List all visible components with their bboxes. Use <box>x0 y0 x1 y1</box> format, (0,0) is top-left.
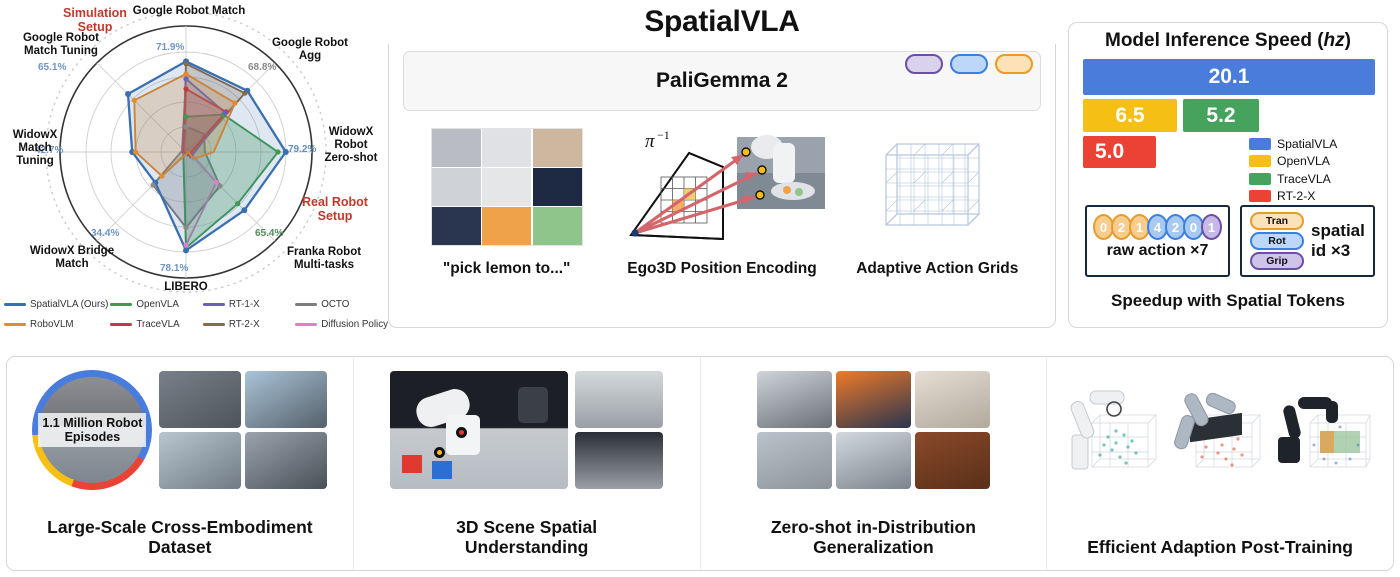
photo-thumb <box>915 432 990 489</box>
radar-axis-label-libero: LIBERO <box>146 281 226 294</box>
photo-thumb <box>575 371 663 428</box>
legend-swatch-icon <box>110 323 132 326</box>
legend-swatch-icon <box>203 303 225 306</box>
radar-legend-item-tracevla: TraceVLA <box>110 316 200 333</box>
svg-text:π: π <box>645 131 655 152</box>
robot-voxel-mixed-icon <box>1274 375 1374 485</box>
feature-adaptive-action-grids: Adaptive Action Grids <box>837 123 1037 278</box>
bar-openvla: 6.5 <box>1083 99 1177 132</box>
radar-legend-item-diffusion-policy: Diffusion Policy <box>295 316 388 333</box>
radar-value-widowx-zero-shot: 79.2% <box>288 144 316 155</box>
raw-action-digits: 0 2 1 4 2 0 1 <box>1093 214 1222 240</box>
speed-title-main: Model Inference Speed ( <box>1105 30 1324 51</box>
photo-thumb <box>757 371 832 428</box>
radar-legend-item-rt-1-x: RT-1-X <box>203 296 293 313</box>
card-art <box>757 369 990 491</box>
feature-art <box>872 123 1002 251</box>
bar-tracevla: 5.2 <box>1183 99 1259 132</box>
radar-legend-item-octo: OCTO <box>295 296 388 313</box>
legend-label: RT-2-X <box>229 319 260 330</box>
speed-bars: 20.1 6.5 5.2 5.0 SpatialVLA <box>1083 59 1375 164</box>
photo-thumb <box>757 432 832 489</box>
card-art <box>1066 369 1374 491</box>
photo-thumb <box>245 371 327 428</box>
feature-pick-lemon: "pick lemon to..." <box>407 123 607 278</box>
speed-legend-item-tracevla: TraceVLA <box>1249 170 1365 188</box>
speed-legend-item-openvla: OpenVLA <box>1249 153 1365 171</box>
radar-axis-label-widowx-bridge-match: WidowX Bridge Match <box>16 245 128 271</box>
card-art: 1.1 Million Robot Episodes <box>32 369 327 491</box>
photo-thumb <box>159 371 241 428</box>
raw-action-caption: raw action ×7 <box>1093 242 1222 260</box>
bar-value: 5.2 <box>1183 104 1259 128</box>
scene-photo-grid <box>575 371 663 489</box>
legend-swatch-icon <box>295 303 317 306</box>
legend-swatch-icon <box>1249 173 1271 185</box>
voxel-cube-icon <box>872 125 1002 249</box>
card-art <box>390 369 663 491</box>
legend-label: RT-2-X <box>1277 189 1315 203</box>
photo-thumb <box>836 371 911 428</box>
robot-voxel-red-icon <box>1170 375 1262 485</box>
photo-main-scene <box>390 371 568 489</box>
feature-row: "pick lemon to..." <box>399 123 1045 315</box>
spatial-tag-tran: Tran <box>1250 212 1304 230</box>
spatial-id-caption: spatial id ×3 <box>1311 221 1365 260</box>
page-title: SpatialVLA <box>388 0 1056 44</box>
zeroshot-photo-grid <box>757 371 990 489</box>
dataset-photo-grid <box>159 371 327 489</box>
poster-root: 71.9% 68.8% 79.2% 65.4% 78.1% 34.4% 42.7… <box>0 0 1400 577</box>
token-pill-purple-icon <box>905 54 943 74</box>
spatial-tag-rot: Rot <box>1250 232 1304 250</box>
legend-label: RT-1-X <box>229 299 260 310</box>
radar-value-franka-multi-tasks: 65.4% <box>255 228 283 239</box>
bar-value: 20.1 <box>1083 65 1375 89</box>
token-pill-blue-icon <box>950 54 988 74</box>
feature-caption: "pick lemon to..." <box>443 260 571 278</box>
image-grid-3x3-icon <box>431 128 583 246</box>
photo-thumb <box>575 432 663 489</box>
speed-legend-item-rt-2-x: RT-2-X <box>1249 188 1365 206</box>
legend-label: TraceVLA <box>1277 172 1331 186</box>
radar-axis-label-google-robot-match: Google Robot Match <box>124 5 254 18</box>
annotation-real-robot-setup: Real Robot Setup <box>288 195 382 223</box>
raw-action-box: 0 2 1 4 2 0 1 raw action ×7 <box>1085 205 1230 277</box>
legend-swatch-icon <box>295 323 317 326</box>
legend-label: OCTO <box>321 299 349 310</box>
radar-value-libero: 78.1% <box>160 263 188 274</box>
legend-swatch-icon <box>110 303 132 306</box>
feature-ego3d-position-encoding: π −1 Ego3D Position Encoding <box>622 123 822 278</box>
top-row: 71.9% 68.8% 79.2% 65.4% 78.1% 34.4% 42.7… <box>0 0 1400 350</box>
feature-art: π −1 <box>617 123 827 251</box>
card-caption: 3D Scene Spatial Understanding <box>360 517 694 558</box>
bar-value: 5.0 <box>1083 140 1156 164</box>
radar-value-google-robot-match: 71.9% <box>156 42 184 53</box>
radar-axis-label-google-robot-agg: Google Robot Agg <box>262 37 358 63</box>
token-pill-group <box>905 54 1033 74</box>
radar-legend-item-robovlm: RoboVLM <box>4 316 108 333</box>
svg-text:−1: −1 <box>657 128 670 142</box>
card-3d-scene: 3D Scene Spatial Understanding <box>353 357 700 570</box>
card-caption: Efficient Adaption Post-Training <box>1053 537 1387 558</box>
token-diagram-row: 0 2 1 4 2 0 1 raw action ×7 Tran Rot Gri… <box>1085 205 1371 277</box>
legend-swatch-icon <box>4 303 26 306</box>
bar-rt-2-x: 5.0 <box>1083 136 1156 168</box>
radar-chart-panel: 71.9% 68.8% 79.2% 65.4% 78.1% 34.4% 42.7… <box>0 0 388 350</box>
raw-digit: 1 <box>1201 214 1222 240</box>
feature-caption: Ego3D Position Encoding <box>627 260 816 278</box>
dataset-donut-icon: 1.1 Million Robot Episodes <box>32 370 152 490</box>
legend-swatch-icon <box>1249 138 1271 150</box>
legend-swatch-icon <box>1249 190 1271 202</box>
radar-legend-item-spatialvla: SpatialVLA (Ours) <box>4 296 108 313</box>
radar-value-google-robot-agg: 68.8% <box>248 62 276 73</box>
radar-legend: SpatialVLA (Ours) OpenVLA RT-1-X OCTO Ro… <box>4 296 388 346</box>
photo-thumb <box>159 432 241 489</box>
speed-title-end: ) <box>1345 30 1351 51</box>
spatial-tag-grip: Grip <box>1250 252 1304 270</box>
token-pill-orange-icon <box>995 54 1033 74</box>
legend-label: Diffusion Policy <box>321 319 388 330</box>
card-caption: Zero-shot in-Distribution Generalization <box>707 517 1041 558</box>
robot-voxel-teal-icon <box>1066 375 1158 485</box>
spatial-id-box: Tran Rot Grip spatial id ×3 <box>1240 205 1375 277</box>
method-panel: PaliGemma 2 <box>388 22 1056 328</box>
legend-swatch-icon <box>1249 155 1271 167</box>
backbone-label: PaliGemma 2 <box>656 69 788 93</box>
legend-label: TraceVLA <box>136 319 179 330</box>
legend-label: SpatialVLA (Ours) <box>30 299 108 310</box>
card-dataset: 1.1 Million Robot Episodes Large-Scale C… <box>7 357 353 570</box>
radar-legend-item-rt-2-x: RT-2-X <box>203 316 293 333</box>
spatial-id-line1: spatial <box>1311 221 1365 241</box>
photo-thumb <box>915 371 990 428</box>
feature-art <box>431 123 583 251</box>
feature-caption: Adaptive Action Grids <box>856 260 1018 278</box>
spatial-id-line2: id ×3 <box>1311 241 1365 261</box>
card-zero-shot: Zero-shot in-Distribution Generalization <box>700 357 1047 570</box>
radar-value-widowx-bridge-match: 34.4% <box>91 228 119 239</box>
speed-title-unit: hz <box>1324 30 1345 51</box>
dataset-badge-label: 1.1 Million Robot Episodes <box>38 413 146 448</box>
card-caption: Large-Scale Cross-Embodiment Dataset <box>13 517 347 558</box>
legend-label: OpenVLA <box>136 299 178 310</box>
speed-legend-item-spatialvla: SpatialVLA <box>1249 135 1365 153</box>
card-post-training: Efficient Adaption Post-Training <box>1046 357 1393 570</box>
radar-axis-label-franka-multi-tasks: Franka Robot Multi-tasks <box>272 246 376 272</box>
photo-thumb <box>245 432 327 489</box>
bar-spatialvla: 20.1 <box>1083 59 1375 95</box>
bar-value: 6.5 <box>1083 104 1177 128</box>
legend-label: RoboVLM <box>30 319 74 330</box>
highlights-row: 1.1 Million Robot Episodes Large-Scale C… <box>6 356 1394 571</box>
frustum-diagram-icon: π −1 <box>617 125 827 249</box>
spatial-tag-group: Tran Rot Grip <box>1250 212 1304 270</box>
radar-value-google-robot-match-tuning: 65.1% <box>38 62 66 73</box>
photo-thumb <box>836 432 911 489</box>
radar-legend-item-openvla: OpenVLA <box>110 296 200 313</box>
radar-axis-label-widowx-zero-shot: WidowX Robot Zero-shot <box>314 126 388 165</box>
legend-swatch-icon <box>4 323 26 326</box>
legend-label: SpatialVLA <box>1277 137 1337 151</box>
radar-axis-label-google-robot-match-tuning: Google Robot Match Tuning <box>6 32 116 58</box>
legend-label: OpenVLA <box>1277 154 1330 168</box>
radar-axis-label-widowx-match-tuning: WidowX Match Tuning <box>1 129 69 168</box>
speed-legend: SpatialVLA OpenVLA TraceVLA RT-2-X <box>1249 135 1365 205</box>
annotation-simulation-setup: Simulation Setup <box>47 6 143 34</box>
speed-panel-title: Model Inference Speed (hz) <box>1069 30 1387 52</box>
speedup-caption: Speedup with Spatial Tokens <box>1069 291 1387 311</box>
legend-swatch-icon <box>203 323 225 326</box>
inference-speed-panel: Model Inference Speed (hz) 20.1 6.5 5.2 … <box>1068 22 1388 328</box>
